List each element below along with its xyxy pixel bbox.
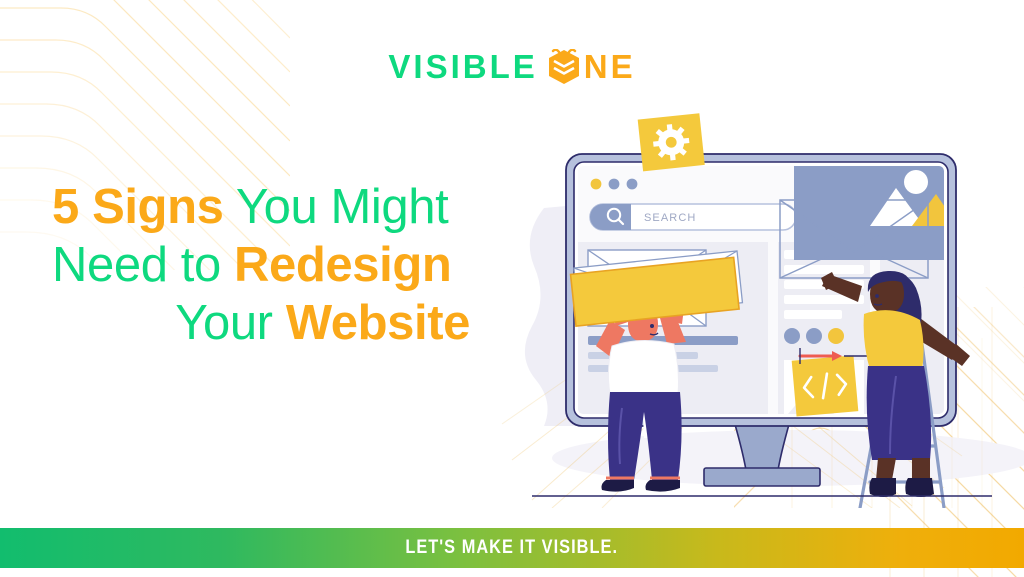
mid-line-2 — [784, 265, 864, 274]
headline-line-1: 5 Signs You Might — [52, 178, 522, 236]
window-dot-1 — [609, 179, 620, 190]
search-placeholder: SEARCH — [644, 212, 696, 224]
headline-seg-2a: Need to — [52, 238, 234, 292]
mid-dot-3 — [828, 328, 844, 344]
monitor-base — [704, 468, 820, 486]
headline-seg-1a: 5 Signs — [52, 180, 223, 234]
brand-logo: VISIBLE NE — [0, 48, 1024, 86]
tagline-text: LET'S MAKE IT VISIBLE. — [406, 537, 619, 559]
woman-top — [864, 310, 924, 370]
bee-hexagon-icon — [547, 49, 581, 85]
hero-sun — [904, 170, 928, 194]
headline-seg-3b: Website — [286, 296, 470, 350]
man-shoe-right — [646, 480, 681, 492]
mid-line-5 — [784, 310, 842, 319]
logo-text-visible: VISIBLE — [388, 48, 537, 86]
man-eye — [650, 324, 654, 328]
tagline-banner: LET'S MAKE IT VISIBLE. — [0, 528, 1024, 568]
woman-eye — [875, 294, 879, 298]
window-dot-2 — [627, 179, 638, 190]
code-badge — [792, 355, 859, 416]
woman-boot-left — [869, 478, 896, 497]
window-dot-yellow — [591, 179, 602, 190]
website-redesign-illustration: SEARCH — [492, 108, 1024, 508]
man-shoe-left — [602, 480, 635, 492]
headline-line-3: Your Website — [52, 294, 522, 352]
headline-line-2: Need to Redesign — [52, 236, 522, 294]
poster-canvas: VISIBLE NE 5 Signs You Might Need to Red… — [0, 0, 1024, 577]
headline-seg-2b: Redesign — [234, 238, 451, 292]
search-button — [590, 204, 631, 230]
logo-text-ne: NE — [584, 48, 636, 86]
woman-leg-right — [912, 458, 930, 480]
page-title: 5 Signs You Might Need to Redesign Your … — [52, 178, 522, 352]
mid-dot-1 — [784, 328, 800, 344]
woman-skirt — [867, 366, 931, 460]
headline-seg-3a: Your — [175, 296, 286, 350]
mid-dot-2 — [806, 328, 822, 344]
gear-badge — [638, 113, 705, 171]
woman-boot-right — [905, 478, 934, 497]
man-shirt — [608, 340, 678, 394]
headline-seg-1b: You Might — [223, 180, 448, 234]
